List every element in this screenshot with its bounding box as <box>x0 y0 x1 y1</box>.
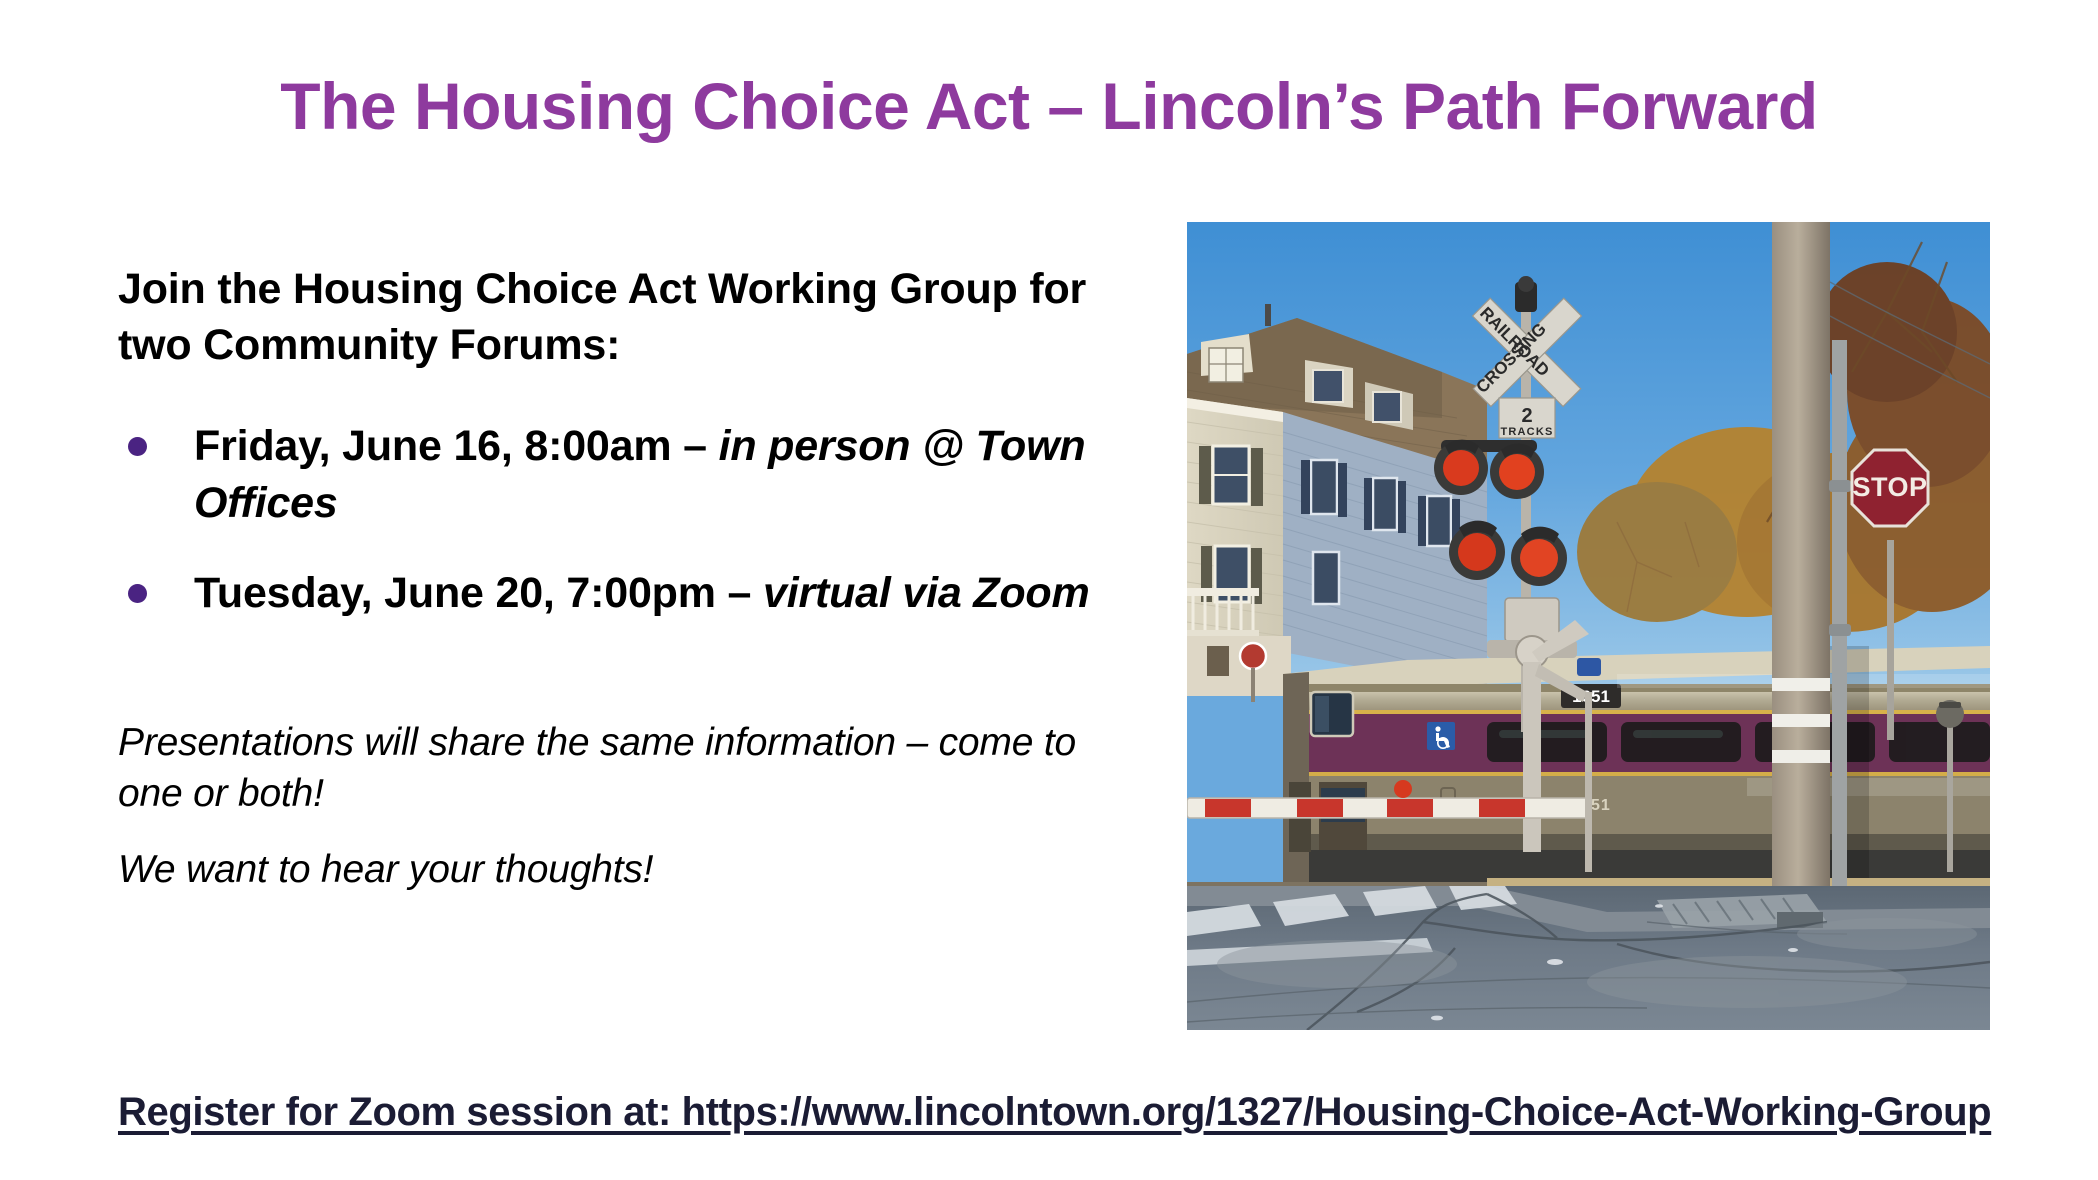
bullet-dot-icon <box>128 584 147 603</box>
page-title: The Housing Choice Act – Lincoln’s Path … <box>0 72 2098 141</box>
crossbuck-tracks-word: TRACKS <box>1500 426 1553 438</box>
railroad-crossing-photo: 1651 1651 <box>1187 222 1990 1030</box>
slide-canvas: The Housing Choice Act – Lincoln’s Path … <box>0 0 2098 1180</box>
notes-block: Presentations will share the same inform… <box>118 718 1138 896</box>
bullet-text-emphasis: virtual via Zoom <box>763 569 1090 617</box>
note-line-presentations: Presentations will share the same inform… <box>118 718 1138 819</box>
content-column: Join the Housing Choice Act Working Grou… <box>118 262 1138 896</box>
list-item: Friday, June 16, 8:00am – in person @ To… <box>118 418 1138 532</box>
register-zoom-link[interactable]: Register for Zoom session at: https://ww… <box>118 1090 1991 1135</box>
bullet-text-plain: Tuesday, June 20, 7:00pm – <box>194 569 763 617</box>
intro-paragraph: Join the Housing Choice Act Working Grou… <box>118 262 1138 374</box>
crossbuck-tracks-count: 2 <box>1521 405 1532 427</box>
stop-sign-text: STOP <box>1852 472 1927 502</box>
note-line-thoughts: We want to hear your thoughts! <box>118 845 1138 896</box>
forum-bullet-list: Friday, June 16, 8:00am – in person @ To… <box>118 418 1138 622</box>
photo-illustration: 1651 1651 <box>1187 222 1990 1030</box>
bullet-dot-icon <box>128 437 147 456</box>
bullet-text-plain: Friday, June 16, 8:00am – <box>194 422 719 470</box>
list-item: Tuesday, June 20, 7:00pm – virtual via Z… <box>118 565 1138 622</box>
